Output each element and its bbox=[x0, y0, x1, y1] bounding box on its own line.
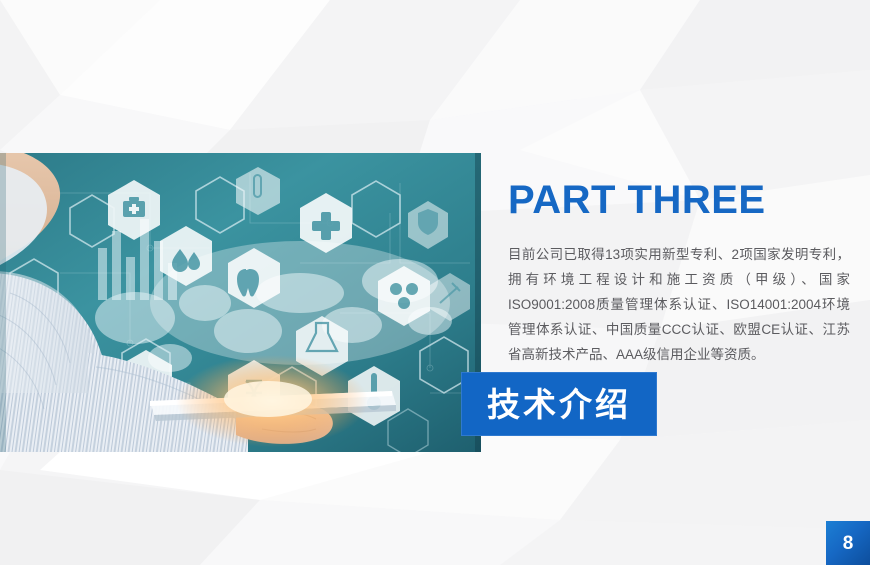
hero-photo bbox=[0, 153, 481, 452]
page-number-value: 8 bbox=[843, 534, 854, 553]
slide-canvas: PART THREE 目前公司已取得13项实用新型专利、2项国家发明专利，拥有环… bbox=[0, 0, 870, 565]
content-column: PART THREE 目前公司已取得13项实用新型专利、2项国家发明专利，拥有环… bbox=[508, 180, 856, 367]
page-title: PART THREE bbox=[508, 180, 856, 220]
body-paragraph: 目前公司已取得13项实用新型专利、2项国家发明专利，拥有环境工程设计和施工资质（… bbox=[508, 242, 850, 367]
section-title-label: 技术介绍 bbox=[487, 388, 631, 421]
hero-photo-graphic bbox=[0, 153, 481, 452]
section-title-box[interactable]: 技术介绍 bbox=[461, 372, 657, 436]
page-number-badge: 8 bbox=[826, 521, 870, 565]
